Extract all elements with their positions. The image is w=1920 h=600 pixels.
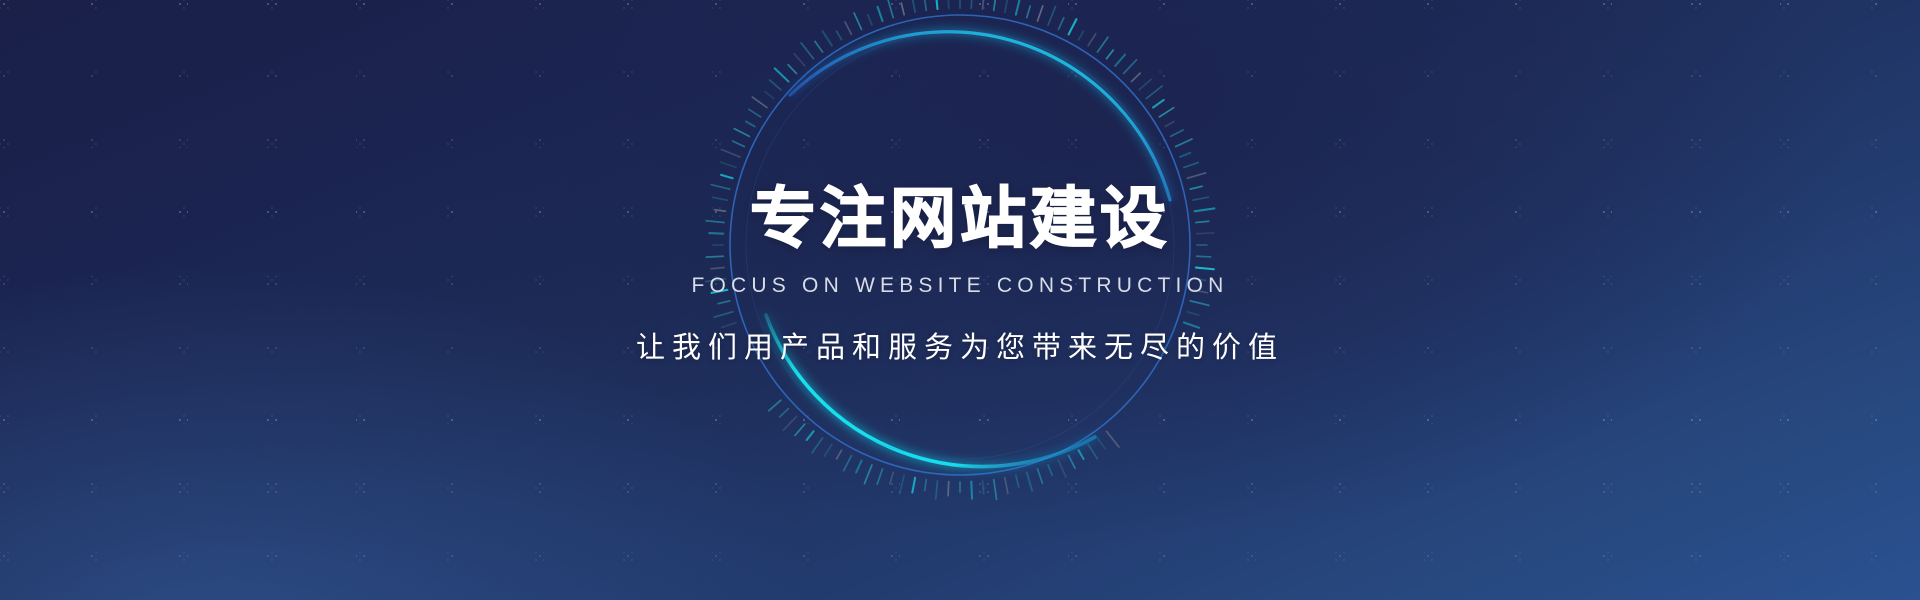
banner-copy: 专注网站建设 FOCUS ON WEBSITE CONSTRUCTION 让我们… [0,0,1920,600]
subtitle-english: FOCUS ON WEBSITE CONSTRUCTION [692,274,1229,298]
hero-banner: 专注网站建设 FOCUS ON WEBSITE CONSTRUCTION 让我们… [0,0,1920,600]
page-title: 专注网站建设 [750,186,1170,252]
tagline-chinese: 让我们用产品和服务为您带来无尽的价值 [636,324,1284,366]
